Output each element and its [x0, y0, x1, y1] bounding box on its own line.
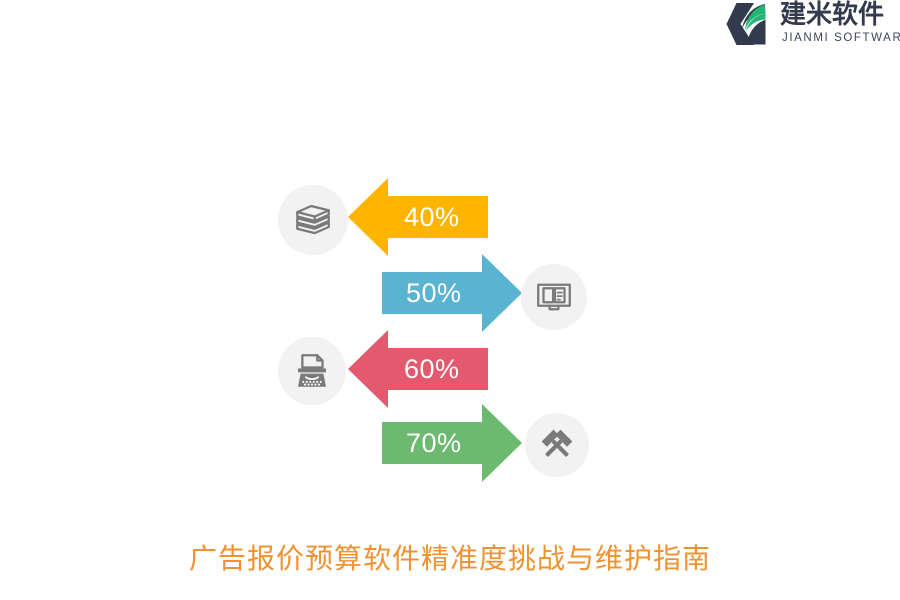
typewriter-icon	[291, 350, 333, 392]
node-circle-open-book	[521, 264, 587, 330]
arrow-row-70: 70%	[382, 404, 522, 482]
arrow-row-50: 50%	[382, 254, 522, 332]
process-arrow-diagram: 40% 50%	[0, 0, 900, 600]
arrow-row-40: 40%	[348, 178, 488, 256]
books-stack-icon	[292, 199, 334, 241]
node-circle-typewriter	[278, 337, 346, 405]
arrow-row-60: 60%	[348, 330, 488, 408]
node-circle-books	[278, 185, 348, 255]
open-book-icon	[533, 276, 575, 318]
page-title: 广告报价预算软件精准度挑战与维护指南	[0, 538, 900, 580]
node-circle-hammers	[525, 413, 589, 477]
hammers-icon	[537, 425, 577, 465]
